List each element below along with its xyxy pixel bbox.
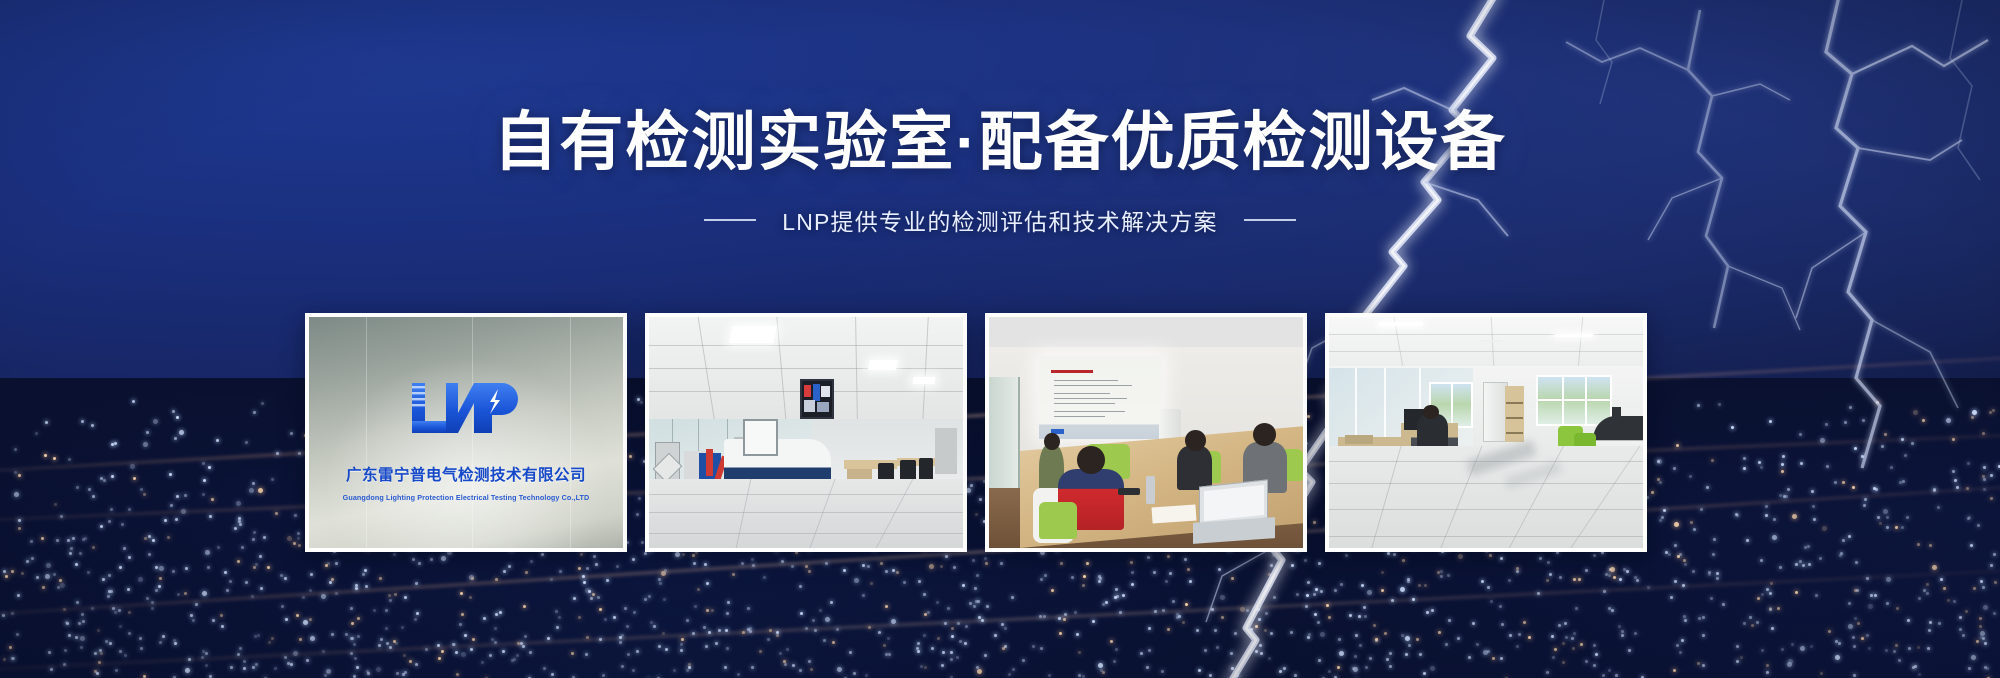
sign-company-name-en: Guangdong Lighting Protection Electrical… [343,493,590,502]
subtitle-row: LNP提供专业的检测评估和技术解决方案 [0,203,2000,237]
projection-screen [1039,356,1161,439]
sign-company-name-cn: 广东雷宁普电气检测技术有限公司 [346,463,586,485]
counter-item [1612,407,1621,421]
photo-gallery: 广东雷宁普电气检测技术有限公司 Guangdong Lighting Prote… [305,313,1647,552]
hero-text-block: 自有检测实验室·配备优质检测设备 LNP提供专业的检测评估和技术解决方案 [0,108,2000,237]
office-scene [1329,317,1643,548]
gallery-photo-meeting-room[interactable] [985,313,1307,552]
person-head [1077,446,1105,474]
lnp-logo-icon [406,377,526,439]
sign-wall-surface: 广东雷宁普电气检测技术有限公司 Guangdong Lighting Prote… [309,317,623,548]
floor [649,479,963,548]
left-dash-icon [704,219,756,221]
chair-seat [1039,502,1077,539]
gallery-photo-office[interactable] [1325,313,1647,552]
right-dash-icon [1244,219,1296,221]
person-head [1423,405,1439,419]
photo-frame: 广东雷宁普电气检测技术有限公司 Guangdong Lighting Prote… [309,317,623,548]
phone [1118,488,1140,495]
glass-door [989,377,1020,488]
console-monitor [743,419,778,456]
page-title: 自有检测实验室·配备优质检测设备 [0,108,2000,177]
window-right [1536,375,1611,426]
gallery-photo-company-sign[interactable]: 广东雷宁普电气检测技术有限公司 Guangdong Lighting Prote… [305,313,627,552]
wall-monitor [800,379,835,418]
thermos [1146,476,1155,504]
laptop-screen [1204,485,1264,521]
person-head [1185,430,1205,451]
bookshelf [1505,386,1524,441]
page-subtitle: LNP提供专业的检测评估和技术解决方案 [782,203,1218,237]
ceiling [1329,317,1643,368]
gallery-photo-laboratory[interactable] [645,313,967,552]
person-head [1044,433,1060,450]
meeting-room-scene [989,317,1303,548]
ceiling [989,317,1303,349]
photo-frame [649,317,963,548]
hero-banner: 自有检测实验室·配备优质检测设备 LNP提供专业的检测评估和技术解决方案 [0,0,2000,678]
desk-items [1345,435,1373,444]
laboratory-scene [649,317,963,548]
photo-frame [989,317,1303,548]
person-middle [1177,446,1212,490]
photo-frame [1329,317,1643,548]
tiled-floor [1329,446,1643,548]
